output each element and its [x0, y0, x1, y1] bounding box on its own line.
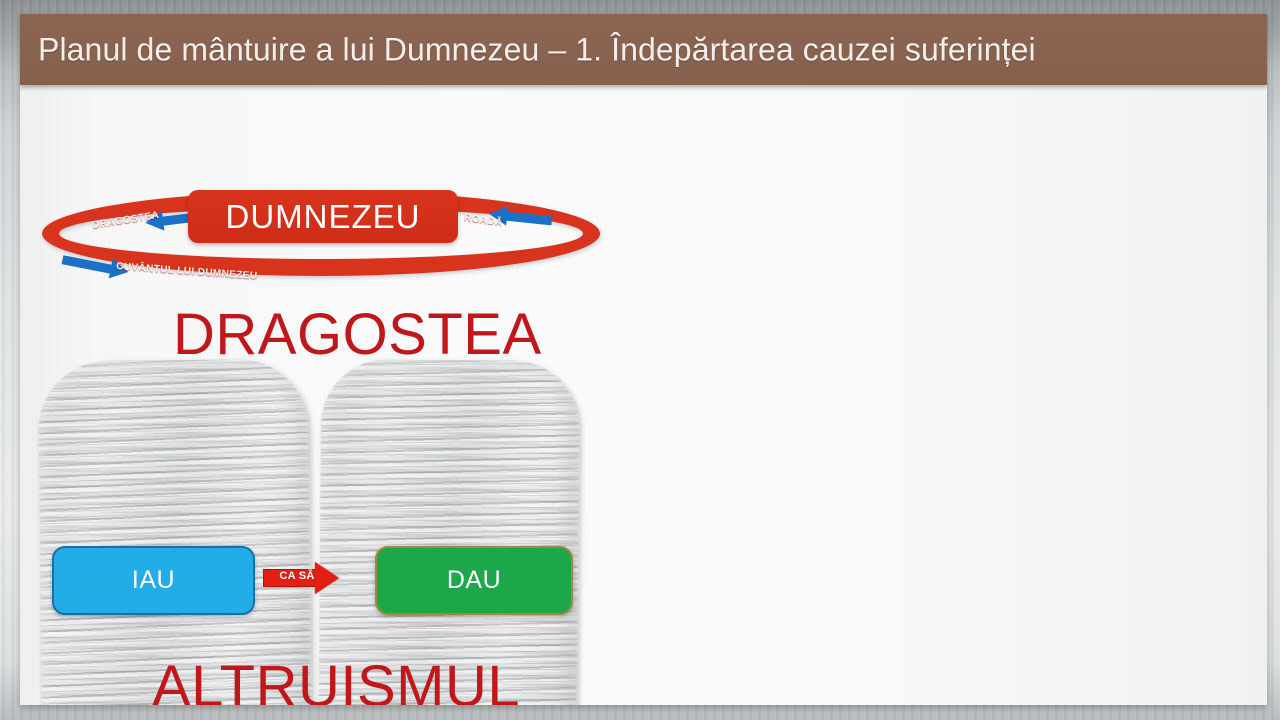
heading-altruismul: ALTRUISMUL — [152, 653, 520, 705]
dau-label: DAU — [447, 566, 501, 595]
heading-dragostea: DRAGOSTEA — [173, 301, 542, 368]
iau-label: IAU — [132, 566, 175, 595]
slide-content-area: DRAGOSTEA ROADĂ CUVÂNTUL LUI DUMNEZEU DU… — [20, 85, 1267, 705]
dumnezeu-box: DUMNEZEU — [188, 190, 458, 243]
page-title: Planul de mântuire a lui Dumnezeu – 1. Î… — [38, 31, 1036, 68]
presentation-slide: Planul de mântuire a lui Dumnezeu – 1. Î… — [0, 0, 1280, 720]
arrow-right-icon-casa: CA SĂ — [263, 563, 338, 592]
casa-label: CA SĂ — [269, 570, 325, 582]
slide-header-bar: Planul de mântuire a lui Dumnezeu – 1. Î… — [20, 14, 1267, 85]
dumnezeu-label: DUMNEZEU — [226, 198, 421, 236]
dau-box: DAU — [375, 546, 573, 615]
iau-box: IAU — [52, 546, 255, 615]
